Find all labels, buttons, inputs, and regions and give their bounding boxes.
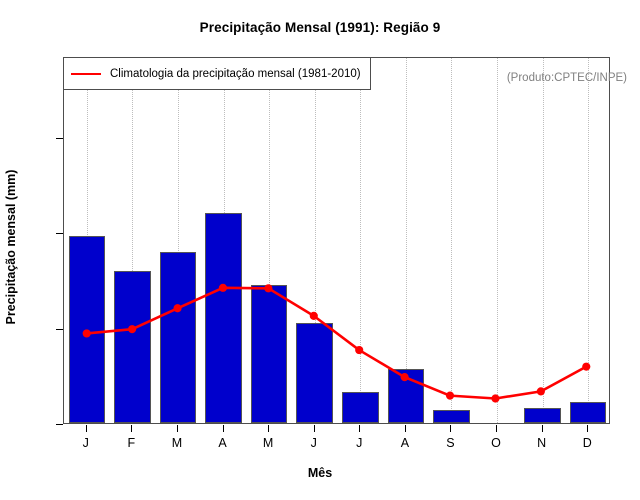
legend-entry-label: Climatologia da precipitação mensal (198… — [110, 68, 361, 80]
climatology-point-d-11 — [582, 363, 590, 371]
climatology-point-a-7 — [401, 373, 409, 381]
x-tick-mark-4 — [268, 425, 269, 432]
climatology-point-o-9 — [491, 394, 499, 402]
x-tick-label-5: J — [299, 436, 329, 450]
x-tick-label-7: A — [390, 436, 420, 450]
legend: Climatologia da precipitação mensal (198… — [63, 57, 371, 90]
x-tick-label-11: D — [572, 436, 602, 450]
climatology-point-m-2 — [173, 304, 181, 312]
x-axis-label: Mês — [0, 466, 640, 480]
legend-line-swatch-icon — [71, 73, 101, 75]
x-tick-mark-2 — [177, 425, 178, 432]
climatology-point-m-4 — [264, 284, 272, 292]
x-tick-label-8: S — [435, 436, 465, 450]
climatology-point-j-5 — [310, 312, 318, 320]
x-tick-mark-0 — [86, 425, 87, 432]
x-tick-mark-7 — [405, 425, 406, 432]
y-tick-mark-400 — [56, 233, 63, 234]
climatology-point-n-10 — [537, 387, 545, 395]
produto-note: (Produto:CPTEC/INPE) — [507, 72, 627, 84]
climatology-point-f-1 — [128, 325, 136, 333]
x-tick-mark-11 — [587, 425, 588, 432]
x-tick-label-0: J — [71, 436, 101, 450]
climatology-polyline — [87, 288, 587, 399]
x-tick-label-10: N — [527, 436, 557, 450]
x-tick-label-6: J — [344, 436, 374, 450]
climatology-point-j-6 — [355, 346, 363, 354]
x-tick-label-3: A — [208, 436, 238, 450]
climatology-point-j-0 — [83, 329, 91, 337]
x-tick-mark-5 — [314, 425, 315, 432]
y-tick-mark-200 — [56, 329, 63, 330]
x-tick-mark-10 — [542, 425, 543, 432]
y-tick-mark-0 — [56, 424, 63, 425]
x-tick-label-9: O — [481, 436, 511, 450]
x-tick-label-4: M — [253, 436, 283, 450]
climatology-point-s-8 — [446, 392, 454, 400]
climatology-line-series — [64, 58, 609, 424]
x-tick-label-2: M — [162, 436, 192, 450]
x-tick-mark-8 — [450, 425, 451, 432]
precipitation-chart: Precipitação Mensal (1991): Região 9 020… — [0, 0, 640, 500]
climatology-point-a-3 — [219, 284, 227, 292]
chart-title: Precipitação Mensal (1991): Região 9 — [0, 20, 640, 35]
y-axis-label: Precipitação mensal (mm) — [4, 97, 18, 397]
x-tick-mark-3 — [223, 425, 224, 432]
x-tick-mark-6 — [359, 425, 360, 432]
x-tick-mark-1 — [131, 425, 132, 432]
x-tick-mark-9 — [496, 425, 497, 432]
x-tick-label-1: F — [116, 436, 146, 450]
y-tick-mark-600 — [56, 138, 63, 139]
plot-area — [63, 57, 610, 424]
